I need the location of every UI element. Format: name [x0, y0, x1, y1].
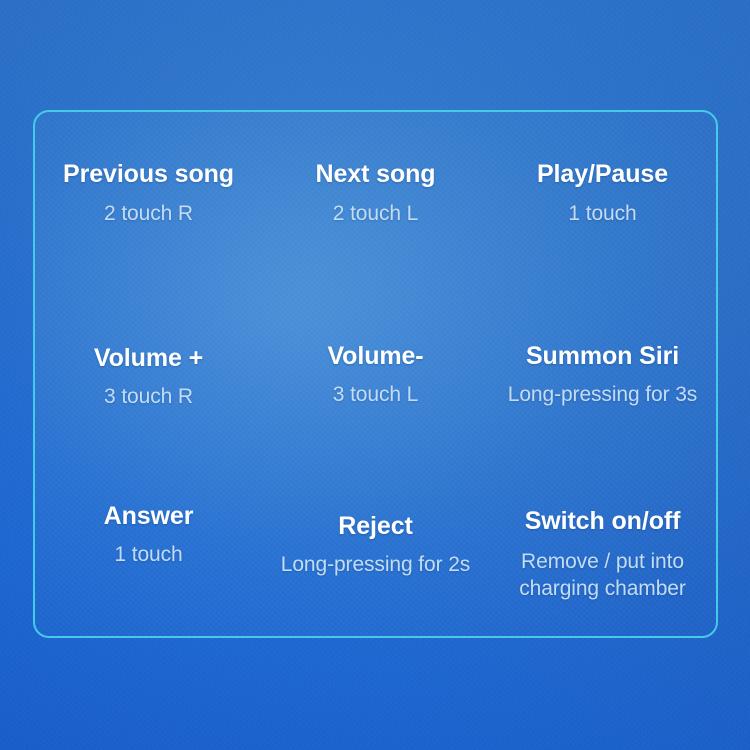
gesture-action: 1 touch: [114, 542, 182, 568]
gesture-grid: Previous song 2 touch R Next song 2 touc…: [35, 112, 716, 636]
gesture-action: 2 touch R: [104, 201, 193, 227]
gesture-cell-previous-song: Previous song 2 touch R: [35, 110, 262, 281]
gesture-action: 1 touch: [568, 201, 636, 227]
gesture-title: Next song: [316, 160, 436, 189]
gesture-cell-summon-siri: Summon Siri Long-pressing for 3s: [489, 288, 716, 463]
gesture-action: 2 touch L: [333, 201, 419, 227]
gesture-title: Play/Pause: [537, 160, 668, 189]
gesture-title: Switch on/off: [525, 507, 681, 536]
gesture-action: Long-pressing for 2s: [281, 552, 470, 578]
gesture-cell-next-song: Next song 2 touch L: [262, 110, 489, 281]
gesture-title: Summon Siri: [526, 342, 679, 371]
gesture-action: Long-pressing for 3s: [508, 382, 697, 408]
gesture-cell-volume-up: Volume + 3 touch R: [35, 290, 262, 465]
gesture-control-panel: Previous song 2 touch R Next song 2 touc…: [33, 110, 718, 638]
gesture-cell-switch-on-off: Switch on/off Remove / put into charging…: [489, 467, 716, 638]
gesture-title: Reject: [338, 512, 412, 541]
gesture-action: 3 touch L: [333, 382, 419, 408]
gesture-cell-volume-down: Volume- 3 touch L: [262, 288, 489, 463]
gesture-guide-screen: Previous song 2 touch R Next song 2 touc…: [0, 0, 750, 750]
gesture-action: 3 touch R: [104, 384, 193, 410]
gesture-cell-play-pause: Play/Pause 1 touch: [489, 110, 716, 281]
gesture-cell-reject: Reject Long-pressing for 2s: [262, 457, 489, 632]
gesture-title: Volume +: [94, 344, 203, 373]
gesture-action: Remove / put into charging chamber: [495, 548, 710, 603]
gesture-cell-answer: Answer 1 touch: [35, 447, 262, 622]
gesture-title: Previous song: [63, 160, 234, 189]
gesture-title: Answer: [104, 502, 194, 531]
gesture-title: Volume-: [327, 342, 423, 371]
